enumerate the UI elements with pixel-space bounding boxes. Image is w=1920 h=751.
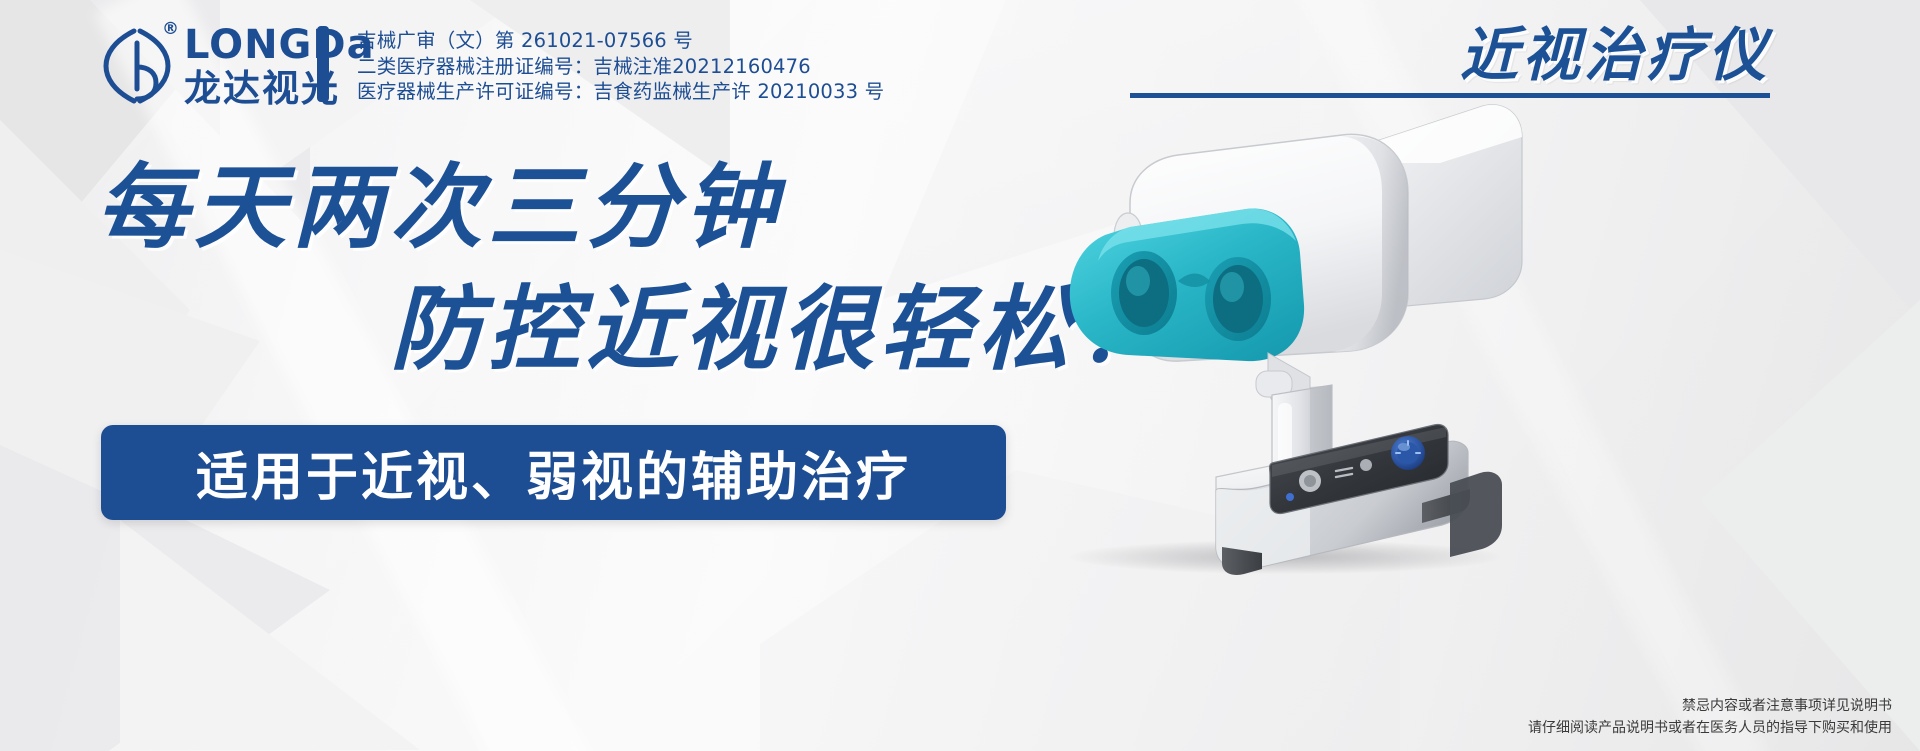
callout-text: 适用于近视、弱视的辅助治疗 — [196, 435, 911, 510]
banner-header: ® LONGDa 龙达视光 吉械广审（文）第 261021-07566 号 二类… — [0, 0, 1920, 120]
brand-logo: ® LONGDa 龙达视光 — [100, 25, 375, 107]
license-info: 吉械广审（文）第 261021-07566 号 二类医疗器械注册证编号：吉械注准… — [357, 28, 884, 105]
headline-line-1: 每天两次三分钟 — [96, 160, 782, 257]
advertisement-banner: ® LONGDa 龙达视光 吉械广审（文）第 261021-07566 号 二类… — [0, 0, 1920, 751]
brand-name-cn: 龙达视光 — [184, 70, 375, 107]
registered-mark: ® — [162, 21, 180, 38]
brand-name-en: ® LONGDa — [184, 25, 375, 65]
background-polygon — [120, 520, 420, 750]
license-line-1: 吉械广审（文）第 261021-07566 号 — [357, 28, 884, 54]
disclaimer-line-2: 请仔细阅读产品说明书或者在医务人员的指导下购买和使用 — [1528, 717, 1892, 739]
disclaimer: 禁忌内容或者注意事项详见说明书 请仔细阅读产品说明书或者在医务人员的指导下购买和… — [1528, 695, 1892, 739]
background-polygon — [1700, 300, 1920, 751]
myopia-treatment-device-image — [1010, 85, 1630, 575]
callout-box: 适用于近视、弱视的辅助治疗 — [101, 425, 1006, 520]
header-divider — [317, 26, 329, 102]
product-title-text: 近视治疗仪 — [1460, 26, 1770, 84]
disclaimer-line-1: 禁忌内容或者注意事项详见说明书 — [1528, 695, 1892, 717]
license-line-2: 二类医疗器械注册证编号：吉械注准20212160476 — [357, 54, 884, 80]
license-line-3: 医疗器械生产许可证编号：吉食药监械生产许 20210033 号 — [357, 79, 884, 105]
brand-name-en-text: LONGDa — [184, 22, 375, 68]
brand-wordmark: ® LONGDa 龙达视光 — [184, 25, 375, 107]
